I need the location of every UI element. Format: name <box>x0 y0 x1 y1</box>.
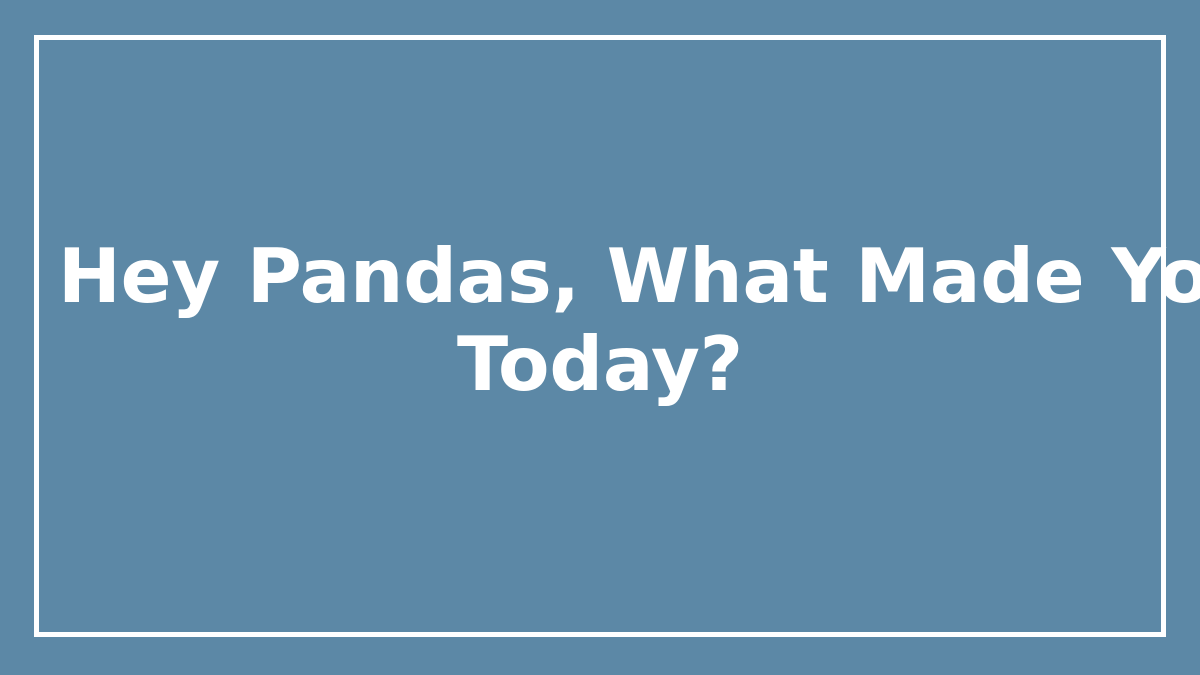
headline-line-1: Hey Pandas, What Made You Cry <box>58 232 1142 320</box>
banner-canvas: Hey Pandas, What Made You Cry Today? <box>0 0 1200 675</box>
headline-container: Hey Pandas, What Made You Cry Today? <box>34 35 1166 637</box>
headline-line-2: Today? <box>58 320 1142 408</box>
page-title: Hey Pandas, What Made You Cry Today? <box>58 232 1142 408</box>
